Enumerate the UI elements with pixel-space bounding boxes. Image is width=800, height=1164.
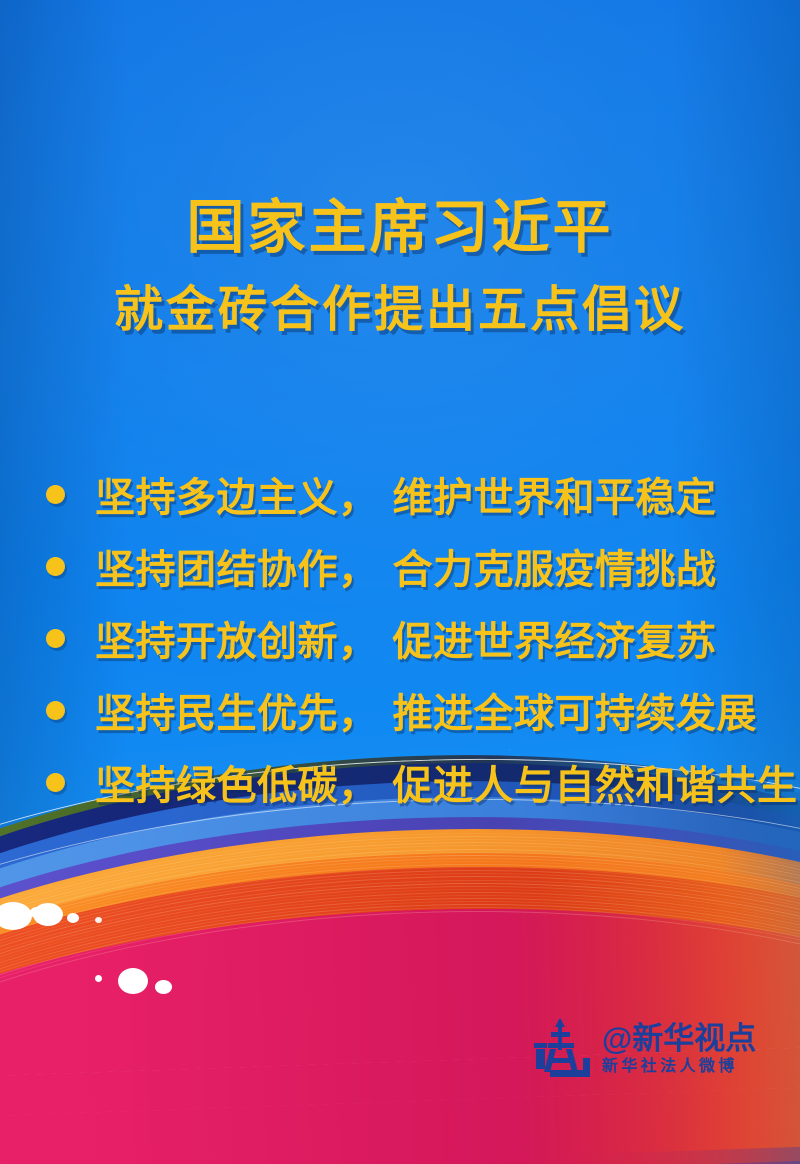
list-item-text: 坚持民生优先，推进全球可持续发展 <box>95 681 757 739</box>
list-item-tail: 推进全球可持续发展 <box>393 692 758 736</box>
list-item: 坚持开放创新，促进世界经济复苏 <box>46 602 786 674</box>
list-item-text: 坚持多边主义，维护世界和平稳定 <box>95 465 717 523</box>
publisher-name: @新华视点 <box>602 1023 756 1054</box>
list-item-text: 坚持绿色低碳，促进人与自然和谐共生 <box>95 753 798 811</box>
list-item-tail: 促进世界经济复苏 <box>393 620 717 664</box>
list-item-tail: 合力克服疫情挑战 <box>393 548 717 592</box>
bullet-dot-icon <box>46 629 65 648</box>
list-item: 坚持团结协作，合力克服疫情挑战 <box>46 530 786 602</box>
list-item-lead: 坚持民生优先， <box>95 692 379 736</box>
list-item-lead: 坚持团结协作， <box>95 548 379 592</box>
list-item-text: 坚持团结协作，合力克服疫情挑战 <box>95 537 717 595</box>
bullet-dot-icon <box>46 557 65 576</box>
list-item: 坚持多边主义，维护世界和平稳定 <box>46 458 786 530</box>
page-subtitle: 就金砖合作提出五点倡议 <box>0 283 800 339</box>
list-item-text: 坚持开放创新，促进世界经济复苏 <box>95 609 717 667</box>
list-item: 坚持绿色低碳，促进人与自然和谐共生 <box>46 746 786 818</box>
publisher-logo-text: @新华视点 新华社法人微博 <box>602 1023 756 1075</box>
poster-infographic: 国家主席习近平 就金砖合作提出五点倡议 坚持多边主义，维护世界和平稳定 坚持团结… <box>0 0 800 1164</box>
list-item-tail: 维护世界和平稳定 <box>393 476 717 520</box>
proposal-list: 坚持多边主义，维护世界和平稳定 坚持团结协作，合力克服疫情挑战 坚持开放创新，促… <box>46 458 786 818</box>
bullet-dot-icon <box>46 701 65 720</box>
title-block: 国家主席习近平 就金砖合作提出五点倡议 <box>0 196 800 339</box>
bullet-dot-icon <box>46 773 65 792</box>
list-item-lead: 坚持绿色低碳， <box>95 764 379 808</box>
xinhua-seal-icon <box>528 1018 594 1080</box>
list-item-lead: 坚持多边主义， <box>95 476 379 520</box>
list-item: 坚持民生优先，推进全球可持续发展 <box>46 674 786 746</box>
list-item-lead: 坚持开放创新， <box>95 620 379 664</box>
bullet-dot-icon <box>46 485 65 504</box>
publisher-tagline: 新华社法人微博 <box>602 1059 756 1075</box>
publisher-logo[interactable]: @新华视点 新华社法人微博 <box>528 1018 756 1080</box>
list-item-tail: 促进人与自然和谐共生 <box>393 764 798 808</box>
page-title: 国家主席习近平 <box>0 196 800 261</box>
